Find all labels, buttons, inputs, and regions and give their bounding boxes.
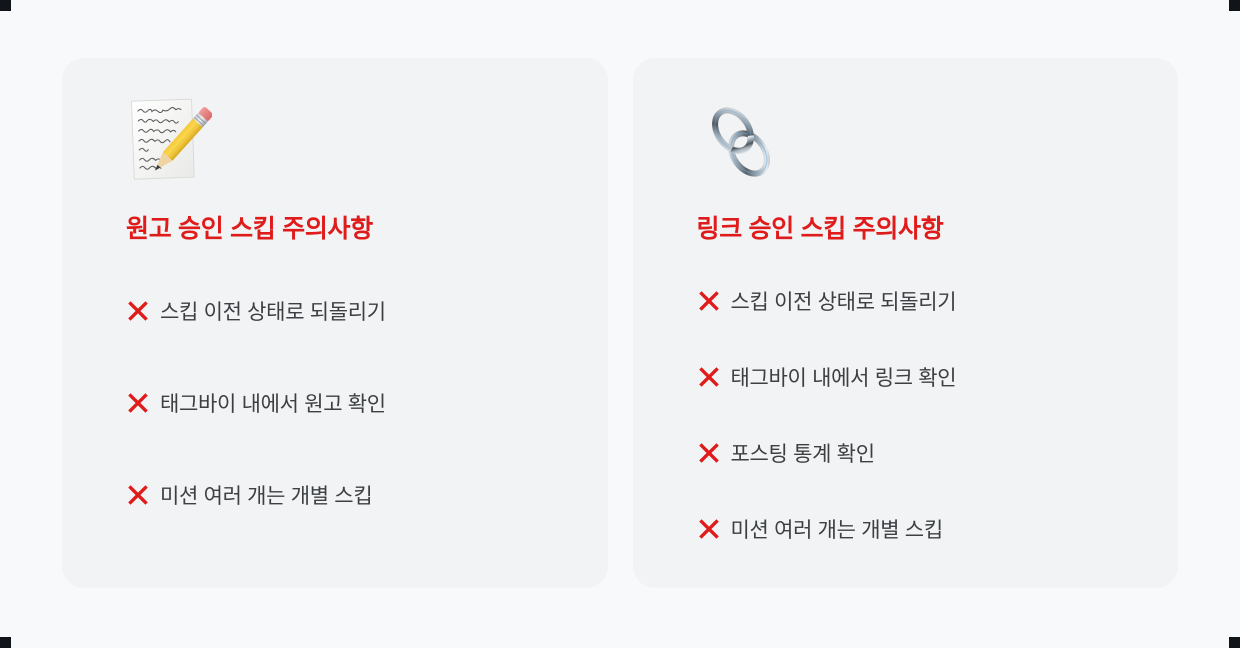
card-link-skip-warnings: 링크 승인 스킵 주의사항 스킵 이전 상태로 되돌리기	[633, 58, 1179, 588]
list-item: 태그바이 내에서 원고 확인	[126, 388, 608, 418]
cross-mark-icon	[126, 483, 150, 507]
corner-artifact-bottom-right	[1229, 637, 1240, 648]
page-canvas: 원고 승인 스킵 주의사항 스킵 이전 상태로 되돌리기	[0, 0, 1240, 648]
warning-list: 스킵 이전 상태로 되돌리기 태그바이 내에서 원고 확인	[62, 296, 608, 510]
list-item-label: 미션 여러 개는 개별 스킵	[731, 514, 943, 544]
card-title: 원고 승인 스킵 주의사항	[126, 214, 608, 244]
list-item-label: 포스팅 통계 확인	[731, 438, 875, 468]
card-title: 링크 승인 스킵 주의사항	[697, 214, 1179, 244]
list-item-label: 태그바이 내에서 원고 확인	[160, 388, 386, 418]
corner-artifact-top-right	[1229, 0, 1240, 11]
list-item: 미션 여러 개는 개별 스킵	[126, 480, 608, 510]
list-item: 스킵 이전 상태로 되돌리기	[697, 286, 1179, 316]
list-item-label: 스킵 이전 상태로 되돌리기	[160, 296, 386, 326]
list-item: 포스팅 통계 확인	[697, 438, 1179, 468]
list-item: 태그바이 내에서 링크 확인	[697, 362, 1179, 392]
warning-list: 스킵 이전 상태로 되돌리기 태그바이 내에서 링크 확인	[633, 286, 1179, 544]
cross-mark-icon	[126, 391, 150, 415]
link-emoji	[699, 94, 783, 190]
list-item-label: 스킵 이전 상태로 되돌리기	[731, 286, 957, 316]
cross-mark-icon	[697, 517, 721, 541]
card-manuscript-skip-warnings: 원고 승인 스킵 주의사항 스킵 이전 상태로 되돌리기	[62, 58, 608, 588]
cross-mark-icon	[697, 365, 721, 389]
list-item-label: 미션 여러 개는 개별 스킵	[160, 480, 372, 510]
cross-mark-icon	[697, 441, 721, 465]
corner-artifact-top-left	[0, 0, 11, 11]
card-container: 원고 승인 스킵 주의사항 스킵 이전 상태로 되돌리기	[62, 58, 1178, 588]
list-item: 미션 여러 개는 개별 스킵	[697, 514, 1179, 544]
cross-mark-icon	[697, 289, 721, 313]
cross-mark-icon	[126, 299, 150, 323]
list-item-label: 태그바이 내에서 링크 확인	[731, 362, 957, 392]
corner-artifact-bottom-left	[0, 637, 11, 648]
memo-emoji	[128, 94, 212, 190]
list-item: 스킵 이전 상태로 되돌리기	[126, 296, 608, 326]
